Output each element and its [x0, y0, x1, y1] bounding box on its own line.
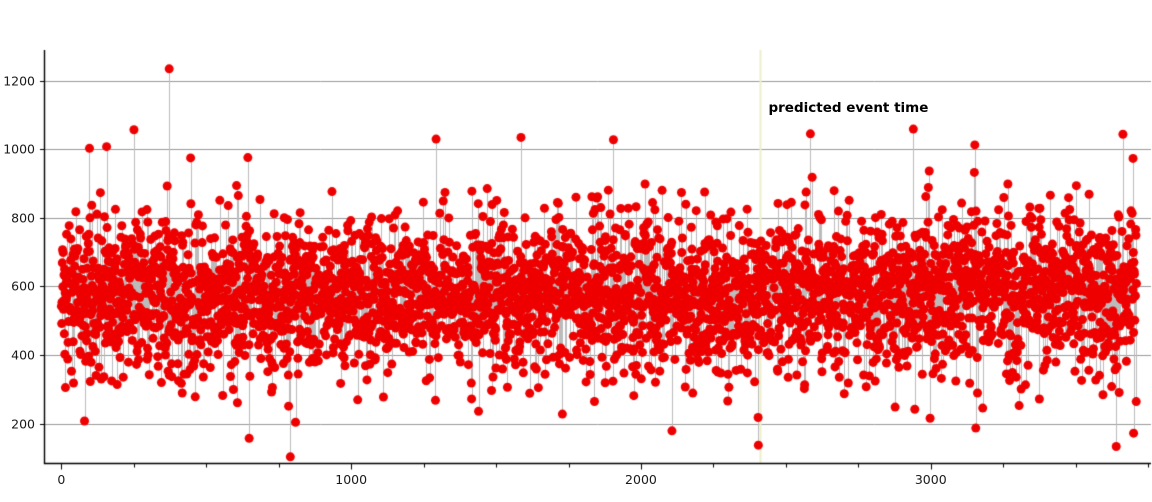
y-tick-label: 600 — [0, 279, 35, 294]
x-tick-label: 1000 — [335, 472, 367, 487]
plot-figure: target signal (background subtracted) at… — [0, 0, 1152, 502]
y-tick-label: 200 — [0, 416, 35, 431]
x-tick-label: 2000 — [625, 472, 657, 487]
predicted-event-time-label: predicted event time — [768, 100, 928, 116]
scatter-plot-canvas — [0, 0, 1152, 502]
y-tick-label: 400 — [0, 348, 35, 363]
x-tick-label: 3000 — [915, 472, 947, 487]
y-tick-label: 1200 — [0, 73, 35, 88]
x-tick-label: 0 — [57, 472, 65, 487]
y-tick-label: 1000 — [0, 142, 35, 157]
y-tick-label: 800 — [0, 210, 35, 225]
